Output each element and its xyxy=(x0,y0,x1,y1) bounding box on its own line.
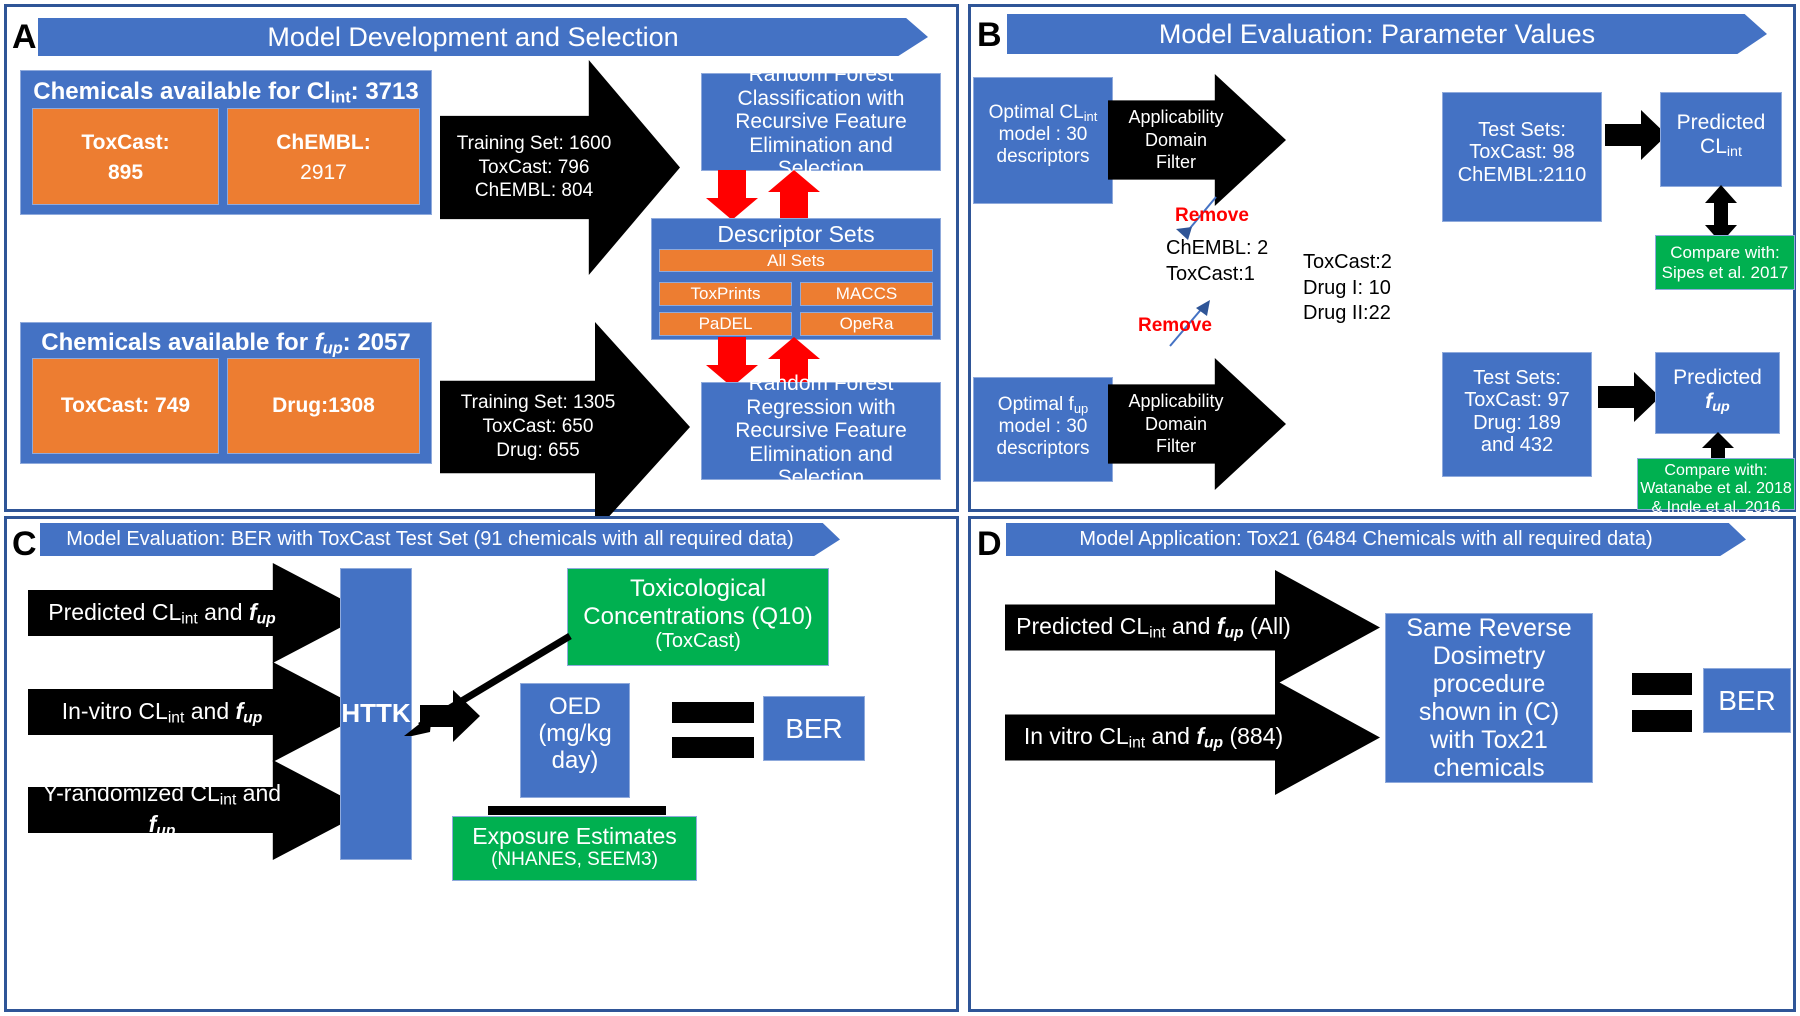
removed-counts-top: ChEMBL: 2 ToxCast:1 xyxy=(1166,236,1268,287)
oed-l3: day) xyxy=(521,748,629,775)
compare-top-l1: Compare with: xyxy=(1656,243,1794,263)
fup-drug-box: Drug:1308 xyxy=(227,358,420,454)
predicted-params-text-d: Predicted CLint and fup (All) xyxy=(1016,612,1291,643)
clint-chembl-box: ChEMBL: 2917 xyxy=(227,108,420,205)
compare-bottom-l1: Compare with: xyxy=(1638,462,1794,480)
fup-toxcast-box: ToxCast: 749 xyxy=(32,358,219,454)
ber-box-c: BER xyxy=(763,696,865,761)
optimal-clint-line2: model : 30 xyxy=(974,124,1112,145)
compare-top-l2: Sipes et al. 2017 xyxy=(1656,263,1794,283)
descriptor-padel: PaDEL xyxy=(659,312,792,336)
predicted-fup-l1: Predicted xyxy=(1656,366,1779,390)
predicted-params-text-c: Predicted CLint and fup xyxy=(48,598,275,629)
panel-b-title: Model Evaluation: Parameter Values xyxy=(1007,19,1767,50)
panel-c-title-banner: Model Evaluation: BER with ToxCast Test … xyxy=(40,523,840,556)
predicted-fup-box: Predicted fup xyxy=(1655,352,1780,434)
removed-top-line2: ToxCast:1 xyxy=(1166,262,1268,288)
figure-root: A Model Development and Selection Chemic… xyxy=(0,0,1800,1016)
optimal-fup-line1: Optimal fup xyxy=(974,394,1112,416)
descriptor-toxprints: ToxPrints xyxy=(659,282,792,306)
test-sets-top-l2: ToxCast: 98 xyxy=(1443,141,1601,163)
compare-watanabe-box: Compare with: Watanabe et al. 2018 & Ing… xyxy=(1637,458,1795,510)
test-sets-top-l1: Test Sets: xyxy=(1443,119,1601,141)
descriptor-all-sets: All Sets xyxy=(659,249,933,272)
remove-label-bottom: Remove xyxy=(1138,315,1212,337)
optimal-fup-line2: model : 30 xyxy=(974,416,1112,437)
optimal-fup-model-box: Optimal fup model : 30 descriptors xyxy=(973,377,1113,482)
descriptor-maccs: MACCS xyxy=(800,282,933,306)
clint-chembl-value: 2917 xyxy=(228,161,419,185)
tox-conc-l3: (ToxCast) xyxy=(568,630,828,653)
equals-bar-top-d xyxy=(1632,673,1692,695)
panel-c-letter: C xyxy=(12,527,37,561)
removed-bottom-line2: Drug I: 10 xyxy=(1303,276,1392,302)
yrandom-params-text-c: Y-randomized CLint and fup xyxy=(28,779,296,841)
exposure-l1: Exposure Estimates xyxy=(453,823,696,849)
oed-l2: (mg/kg xyxy=(521,721,629,748)
equals-bar-bottom-d xyxy=(1632,710,1692,732)
tox-conc-l1: Toxicological xyxy=(568,575,828,603)
panel-a-letter: A xyxy=(12,20,37,54)
invitro-params-text-c: In-vitro CLint and fup xyxy=(62,697,263,728)
descriptor-opera: OpeRa xyxy=(800,312,933,336)
exposure-estimates-box: Exposure Estimates (NHANES, SEEM3) xyxy=(452,816,697,881)
random-forest-classification-box: Random Forest Classification with Recurs… xyxy=(701,73,941,171)
optimal-clint-line3: descriptors xyxy=(974,146,1112,167)
oed-box: OED (mg/kg day) xyxy=(520,683,630,798)
predicted-clint-l1: Predicted xyxy=(1661,111,1781,135)
test-sets-bottom-l2: ToxCast: 97 xyxy=(1443,389,1591,411)
clint-box-header: Chemicals available for Clint: 3713 xyxy=(21,71,431,107)
compare-sipes-box: Compare with: Sipes et al. 2017 xyxy=(1655,235,1795,290)
compare-bottom-l3: & Ingle et al. 2016 xyxy=(1638,499,1794,517)
fup-box-header: Chemicals available for fup: 2057 xyxy=(21,323,431,358)
fraction-line-c xyxy=(488,806,666,815)
red-arrows-top xyxy=(708,170,828,222)
panel-a-title: Model Development and Selection xyxy=(38,22,928,53)
removed-bottom-line1: ToxCast:2 xyxy=(1303,250,1392,276)
equals-bar-bottom-c xyxy=(672,737,754,758)
toxicological-concentrations-box: Toxicological Concentrations (Q10) (ToxC… xyxy=(567,568,829,666)
predicted-clint-box: Predicted CLint xyxy=(1660,92,1782,187)
httk-to-oed-arrow xyxy=(420,690,482,742)
predicted-clint-l2: CLint xyxy=(1661,135,1781,160)
panel-d xyxy=(968,516,1796,1012)
filter-bottom-text: Applicability Domain Filter xyxy=(1124,390,1229,458)
removed-bottom-line3: Drug II:22 xyxy=(1303,301,1392,327)
oed-l1: OED xyxy=(521,694,629,721)
clint-training-line2: ToxCast: 796 xyxy=(440,156,628,180)
optimal-fup-line3: descriptors xyxy=(974,438,1112,459)
test-sets-bottom-l1: Test Sets: xyxy=(1443,367,1591,389)
test-sets-clint-box: Test Sets: ToxCast: 98 ChEMBL:2110 xyxy=(1442,92,1602,222)
removed-top-line1: ChEMBL: 2 xyxy=(1166,236,1268,262)
removed-counts-bottom: ToxCast:2 Drug I: 10 Drug II:22 xyxy=(1303,250,1392,327)
panel-c-title: Model Evaluation: BER with ToxCast Test … xyxy=(40,528,840,551)
test-sets-bottom-l4: and 432 xyxy=(1443,434,1591,456)
random-forest-regression-box: Random Forest Regression with Recursive … xyxy=(701,382,941,480)
panel-b-title-banner: Model Evaluation: Parameter Values xyxy=(1007,14,1767,54)
filter-top-text: Applicability Domain Filter xyxy=(1124,106,1229,174)
clint-toxcast-value: 895 xyxy=(33,161,218,185)
test-sets-bottom-l3: Drug: 189 xyxy=(1443,412,1591,434)
tox-conc-l2: Concentrations (Q10) xyxy=(568,603,828,631)
panel-d-letter: D xyxy=(977,527,1002,561)
optimal-clint-model-box: Optimal CLint model : 30 descriptors xyxy=(973,77,1113,204)
predicted-fup-l2: fup xyxy=(1656,390,1779,415)
fup-training-line3: Drug: 655 xyxy=(440,439,636,463)
optimal-clint-line1: Optimal CLint xyxy=(974,102,1112,124)
fup-training-line1: Training Set: 1305 xyxy=(440,391,636,415)
clint-toxcast-label: ToxCast: xyxy=(33,131,218,155)
panel-d-title: Model Application: Tox21 (6484 Chemicals… xyxy=(1006,528,1746,551)
compare-bottom-l2: Watanabe et al. 2018 xyxy=(1638,480,1794,498)
clint-chembl-label: ChEMBL: xyxy=(228,131,419,155)
arrow-to-predicted-fup xyxy=(1598,372,1662,422)
panel-a-title-banner: Model Development and Selection xyxy=(38,18,928,56)
fup-training-line2: ToxCast: 650 xyxy=(440,415,636,439)
panel-d-title-banner: Model Application: Tox21 (6484 Chemicals… xyxy=(1006,523,1746,556)
panel-b-letter: B xyxy=(977,18,1002,52)
remove-label-top: Remove xyxy=(1175,205,1249,227)
test-sets-fup-box: Test Sets: ToxCast: 97 Drug: 189 and 432 xyxy=(1442,352,1592,477)
invitro-params-text-d: In vitro CLint and fup (884) xyxy=(1024,722,1283,753)
exposure-l2: (NHANES, SEEM3) xyxy=(453,849,696,871)
reverse-dosimetry-box: Same Reverse Dosimetry procedure shown i… xyxy=(1385,613,1593,783)
descriptor-sets-title: Descriptor Sets xyxy=(652,219,940,248)
clint-training-line3: ChEMBL: 804 xyxy=(440,179,628,203)
clint-training-line1: Training Set: 1600 xyxy=(440,132,628,156)
ber-box-d: BER xyxy=(1703,668,1791,733)
test-sets-top-l3: ChEMBL:2110 xyxy=(1443,164,1601,186)
equals-bar-top-c xyxy=(672,702,754,723)
clint-toxcast-box: ToxCast: 895 xyxy=(32,108,219,205)
